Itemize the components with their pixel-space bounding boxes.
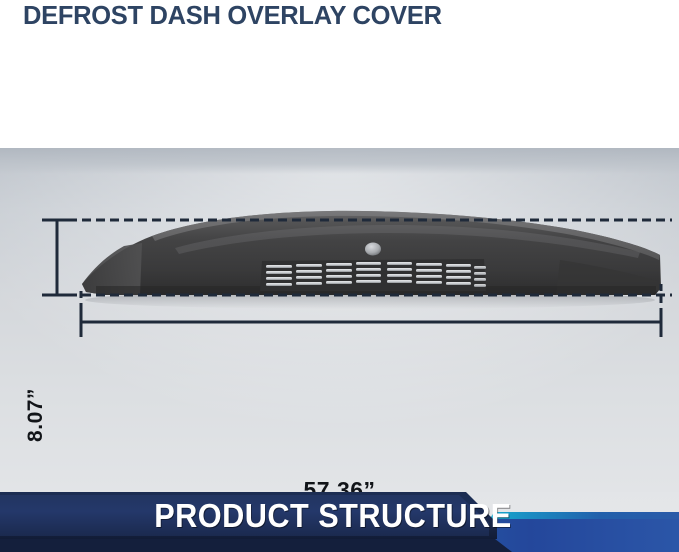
product-image-stage: 8.07” 57.36” bbox=[0, 148, 679, 492]
product-infographic-page: DEFROST DASH OVERLAY COVER bbox=[0, 0, 679, 552]
dimension-overlay bbox=[0, 148, 679, 492]
banner-title: PRODUCT STRUCTURE bbox=[154, 495, 452, 536]
footer-banner: PRODUCT STRUCTURE bbox=[0, 492, 679, 552]
title-area: DEFROST DASH OVERLAY COVER bbox=[0, 0, 679, 148]
page-title: DEFROST DASH OVERLAY COVER bbox=[23, 2, 442, 31]
height-dimension-label: 8.07” bbox=[24, 370, 48, 460]
